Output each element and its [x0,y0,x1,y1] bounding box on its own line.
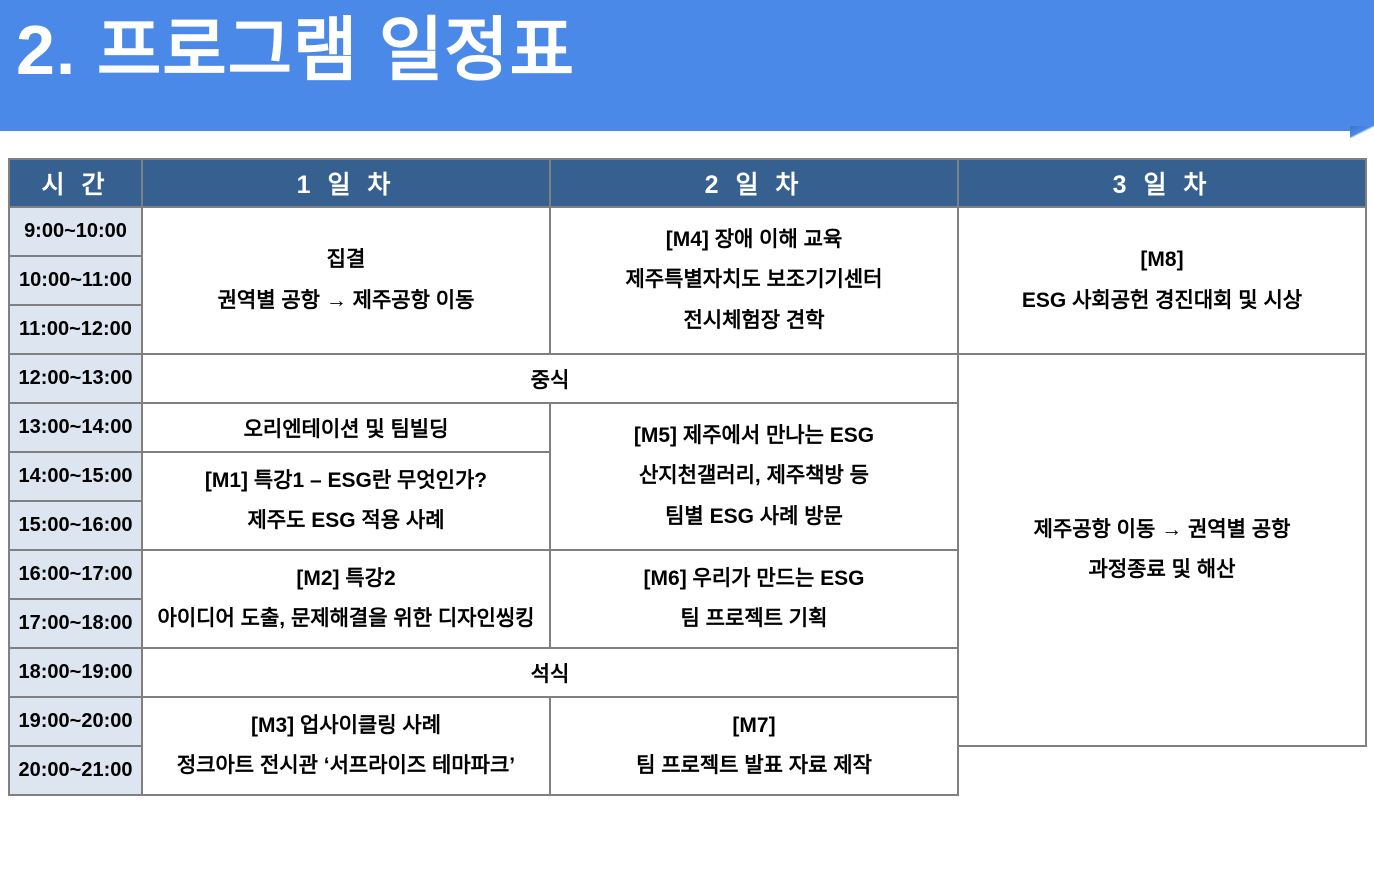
cell-line: [M3] 업사이클링 사례 [143,706,549,746]
cell-line: [M7] [551,706,957,746]
cell-line: 산지천갤러리, 제주책방 등 [551,456,957,496]
cell-line: ESG 사회공헌 경진대회 및 시상 [959,281,1365,321]
time-slot-label: 19:00~20:00 [9,697,142,746]
program-schedule-table: 시 간 1 일 차 2 일 차 3 일 차 9:00~10:00 집결 권역별 … [8,158,1367,796]
time-slot-label: 10:00~11:00 [9,256,142,305]
cell-day2-morning: [M4] 장애 이해 교육 제주특별자치도 보조기기센터 전시체험장 견학 [550,207,958,354]
cell-line: [M6] 우리가 만드는 ESG [551,559,957,599]
time-slot-label: 18:00~19:00 [9,648,142,697]
cell-day1-m3: [M3] 업사이클링 사례 정크아트 전시관 ‘서프라이즈 테마파크’ [142,697,550,795]
table-header-row: 시 간 1 일 차 2 일 차 3 일 차 [9,159,1366,207]
cell-day3-morning: [M8] ESG 사회공헌 경진대회 및 시상 [958,207,1366,354]
time-slot-label: 12:00~13:00 [9,354,142,403]
column-header-time: 시 간 [9,159,142,207]
cell-line: [M8] [959,240,1365,280]
cell-line: [M2] 특강2 [143,559,549,599]
table-body: 9:00~10:00 집결 권역별 공항 → 제주공항 이동 [M4] 장애 이… [9,207,1366,795]
time-slot-label: 11:00~12:00 [9,305,142,354]
cell-line: 정크아트 전시관 ‘서프라이즈 테마파크’ [143,746,549,786]
table-row: 12:00~13:00 중식 제주공항 이동 → 권역별 공항 과정종료 및 해… [9,354,1366,403]
cell-line: [M4] 장애 이해 교육 [551,220,957,260]
cell-dinner: 석식 [142,648,958,697]
column-header-day-1: 1 일 차 [142,159,550,207]
cell-lunch: 중식 [142,354,958,403]
cell-line: 전시체험장 견학 [551,301,957,341]
table-row: 9:00~10:00 집결 권역별 공항 → 제주공항 이동 [M4] 장애 이… [9,207,1366,256]
cell-line: [M5] 제주에서 만나는 ESG [551,416,957,456]
cell-line: 제주공항 이동 → 권역별 공항 [959,510,1365,550]
cell-day1-m2: [M2] 특강2 아이디어 도출, 문제해결을 위한 디자인씽킹 [142,550,550,648]
page-title: 2. 프로그램 일정표 [16,0,575,102]
cell-day1-orientation: 오리엔테이션 및 팀빌딩 [142,403,550,452]
cell-line: 과정종료 및 해산 [959,550,1365,590]
cell-day2-m7: [M7] 팀 프로젝트 발표 자료 제작 [550,697,958,795]
cell-line: 집결 [143,240,549,280]
cell-line: 팀별 ESG 사례 방문 [551,497,957,537]
cell-line: 팀 프로젝트 발표 자료 제작 [551,746,957,786]
time-slot-label: 16:00~17:00 [9,550,142,599]
column-header-day-3: 3 일 차 [958,159,1366,207]
cell-line: [M1] 특강1 – ESG란 무엇인가? [143,461,549,501]
cell-line: 아이디어 도출, 문제해결을 위한 디자인씽킹 [143,599,549,639]
cell-day1-morning: 집결 권역별 공항 → 제주공항 이동 [142,207,550,354]
time-slot-label: 20:00~21:00 [9,746,142,795]
time-slot-label: 17:00~18:00 [9,599,142,648]
cell-line: 팀 프로젝트 기획 [551,599,957,639]
column-header-day-2: 2 일 차 [550,159,958,207]
banner-fold-decoration [1350,126,1374,138]
cell-line: 제주도 ESG 적용 사례 [143,501,549,541]
cell-day3-afternoon: 제주공항 이동 → 권역별 공항 과정종료 및 해산 [958,354,1366,746]
title-banner: 2. 프로그램 일정표 [0,0,1374,131]
time-slot-label: 13:00~14:00 [9,403,142,452]
time-slot-label: 14:00~15:00 [9,452,142,501]
time-slot-label: 15:00~16:00 [9,501,142,550]
time-slot-label: 9:00~10:00 [9,207,142,256]
table-header: 시 간 1 일 차 2 일 차 3 일 차 [9,159,1366,207]
cell-day2-m6: [M6] 우리가 만드는 ESG 팀 프로젝트 기획 [550,550,958,648]
cell-line: 제주특별자치도 보조기기센터 [551,260,957,300]
cell-day2-m5: [M5] 제주에서 만나는 ESG 산지천갤러리, 제주책방 등 팀별 ESG … [550,403,958,550]
cell-line: 권역별 공항 → 제주공항 이동 [143,281,549,321]
cell-day1-m1: [M1] 특강1 – ESG란 무엇인가? 제주도 ESG 적용 사례 [142,452,550,550]
